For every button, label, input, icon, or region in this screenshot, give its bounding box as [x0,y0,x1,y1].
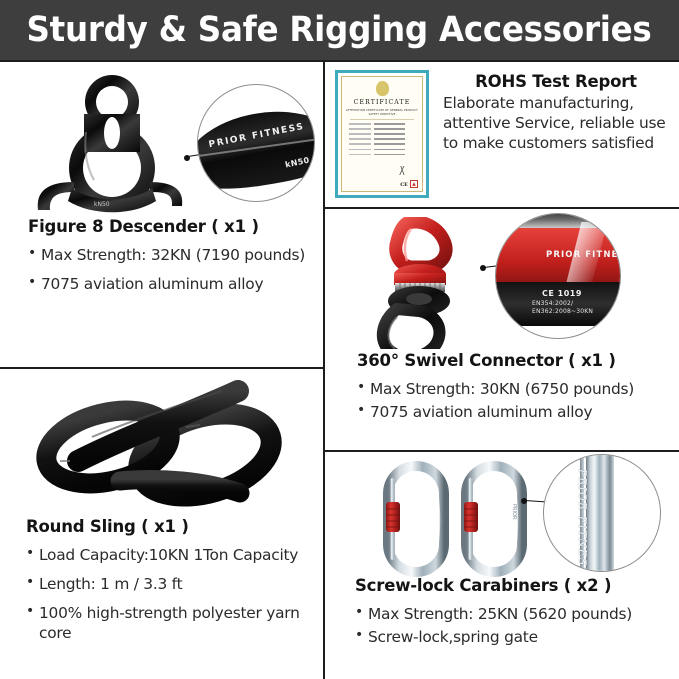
spec-item: Max Strength: 32KN (7190 pounds) [28,245,311,265]
certificate-row [349,154,415,156]
certificate-divider [350,119,413,120]
swivel-connector-specs: Max Strength: 30KN (6750 pounds) 7075 av… [357,379,667,422]
swivel-brand-label: PRIOR FITNESS [546,250,621,260]
swivel-connector-title: 360° Swivel Connector ( x1 ) [357,351,667,370]
carabiner-1 [377,460,455,578]
left-column: kN50 PRIOR FITNESS kN50 Figure 8 Descend… [0,62,325,679]
figure-8-descender-text: Figure 8 Descender ( x1 ) Max Strength: … [0,217,323,303]
panel-screw-lock-carabiners: PRIOR PRIOR FITNESS Screw-lock Carabiner… [325,450,679,679]
spec-item: Max Strength: 30KN (6750 pounds) [357,379,667,399]
round-sling-title: Round Sling ( x1 ) [26,517,311,536]
svg-text:PRIOR: PRIOR [511,504,517,520]
round-sling-image [0,369,323,517]
panel-figure-8-descender: kN50 PRIOR FITNESS kN50 Figure 8 Descend… [0,62,323,367]
swivel-connector-text: 360° Swivel Connector ( x1 ) Max Strengt… [325,351,679,425]
spec-item: Length: 1 m / 3.3 ft [26,574,311,594]
carabiner-detail-body [586,454,612,572]
certificate-signature [390,166,416,175]
swivel-connector-svg [353,217,493,349]
figure-8-descender-image: kN50 PRIOR FITNESS kN50 [0,62,323,217]
page-title: Sturdy & Safe Rigging Accessories [27,10,652,50]
certificate-row [349,133,415,135]
swivel-connector-image: PRIOR FITNESS CE 1019 EN354:2002/ EN362:… [325,209,679,351]
content-grid: kN50 PRIOR FITNESS kN50 Figure 8 Descend… [0,60,679,679]
round-sling-text: Round Sling ( x1 ) Load Capacity:10KN 1T… [0,517,323,652]
spec-item: Load Capacity:10KN 1Ton Capacity [26,545,311,565]
carabiners-image: PRIOR PRIOR FITNESS [325,452,679,576]
certificate-row [349,138,415,140]
svg-text:kN50: kN50 [94,201,110,208]
swivel-ce-label: CE 1019 [542,289,582,298]
certificate-row [349,143,415,145]
carabiner-engraving-label: PRIOR FITNESS [576,469,589,572]
certificate-heading: CERTIFICATE [354,99,411,106]
panel-swivel-connector: PRIOR FITNESS CE 1019 EN354:2002/ EN362:… [325,207,679,450]
certificate-field-rows [349,123,415,159]
figure-8-descender-specs: Max Strength: 32KN (7190 pounds) 7075 av… [28,245,311,294]
carabiners-specs: Max Strength: 25KN (5620 pounds) Screw-l… [355,604,667,647]
rohs-title: ROHS Test Report [443,72,669,91]
safety-mark-icon [410,180,418,188]
header-bar: Sturdy & Safe Rigging Accessories [0,0,679,60]
spec-item: 100% high-strength polyester yarn core [26,603,311,643]
certificate-seal-icon [376,81,389,96]
carabiners-title: Screw-lock Carabiners ( x2 ) [355,576,667,595]
carabiner-magnifier-callout: PRIOR FITNESS [543,454,661,572]
figure-8-magnifier-callout: PRIOR FITNESS kN50 [197,84,315,202]
certificate-subheading: ATTESTATION CERTIFICATE OF GENERAL PRODU… [346,108,418,116]
certificate-inner: CERTIFICATE ATTESTATION CERTIFICATE OF G… [341,76,423,192]
spec-item: 7075 aviation aluminum alloy [28,274,311,294]
panel-round-sling: Round Sling ( x1 ) Load Capacity:10KN 1T… [0,367,323,679]
certificate-row [349,123,415,125]
certificate-row [349,149,415,151]
rohs-description: Elaborate manufacturing, attentive Servi… [443,93,669,153]
right-column: CERTIFICATE ATTESTATION CERTIFICATE OF G… [325,62,679,679]
certificate-footer-marks: CE [400,180,418,188]
round-sling-svg [0,369,323,517]
rohs-text-block: ROHS Test Report Elaborate manufacturing… [443,70,669,153]
certificate-row [349,128,415,130]
spec-item: Screw-lock,spring gate [355,627,667,647]
swivel-magnifier-callout: PRIOR FITNESS CE 1019 EN354:2002/ EN362:… [495,213,621,339]
swivel-standards-label: EN354:2002/ EN362:2008~30KN [532,300,593,316]
figure-8-descender-svg: kN50 [22,70,202,220]
spec-item: Max Strength: 25KN (5620 pounds) [355,604,667,624]
carabiner-2: PRIOR [455,460,533,578]
round-sling-specs: Load Capacity:10KN 1Ton Capacity Length:… [26,545,311,643]
carabiners-text: Screw-lock Carabiners ( x2 ) Max Strengt… [325,576,679,650]
panel-rohs-test-report: CERTIFICATE ATTESTATION CERTIFICATE OF G… [325,62,679,207]
product-infographic: Sturdy & Safe Rigging Accessories [0,0,679,679]
spec-item: 7075 aviation aluminum alloy [357,402,667,422]
carabiner-detail-edge-right [610,454,614,572]
certificate-image: CERTIFICATE ATTESTATION CERTIFICATE OF G… [335,70,429,198]
ce-mark-label: CE [400,182,408,188]
figure-8-descender-product: kN50 [22,70,202,220]
swivel-connector-product [353,217,493,349]
